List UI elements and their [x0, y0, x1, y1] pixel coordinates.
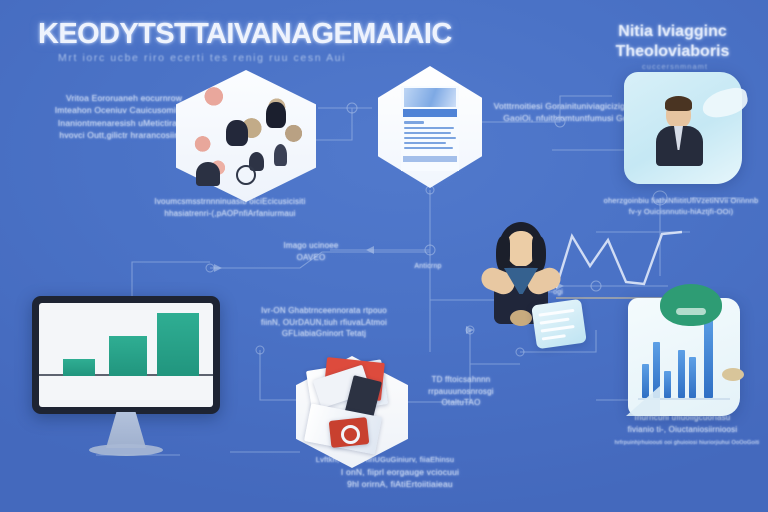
document-text-line [404, 142, 446, 145]
infographic-canvas: KEODYTSTTAIVANAGEMAIAIC Mrt iorc ucbe ri… [0, 0, 768, 512]
document-text-line [404, 121, 424, 124]
avatar-hair [665, 96, 692, 111]
callout-bottom-caption: I onN, fiiprl eorgauge vciocuui 9hl orir… [300, 466, 500, 491]
monitor-bar [109, 336, 147, 376]
meeting-figure [226, 120, 248, 146]
top-right-subtitle: cuccersnmnamt [600, 62, 750, 71]
monitor-screen [39, 303, 213, 407]
analytics-bar [642, 364, 649, 398]
zigzag-line-chart [556, 216, 682, 302]
monitor-stand-base [89, 444, 163, 456]
meeting-figure [274, 144, 287, 166]
note-line [539, 318, 569, 325]
document-text-line [404, 132, 451, 135]
note-line [541, 325, 575, 333]
document-header-image [404, 88, 455, 107]
page-subtitle: Mrt iorc ucbe riro ecerti tes renig ruu … [58, 52, 358, 64]
document-text-line [404, 137, 455, 140]
monitor-bar [157, 313, 199, 375]
callout-right-edge-top: hrfrpuinhjrhuioouti ooi ghuioiosi hiurio… [608, 440, 766, 448]
callout-right-mid: oherzgoinbiu fiathiNfiititUfiVzetiNVii O… [596, 196, 766, 218]
callout-center-lower: TD fftoicsahnnn rrpauuunosnrosgi OtaltuT… [396, 374, 526, 409]
analytics-bar [678, 350, 685, 398]
analytics-pin [722, 368, 744, 381]
analytics-bar [689, 357, 696, 398]
callout-center-upper: Imago ucinoee OAVEO [266, 240, 356, 263]
analytics-bar [704, 312, 713, 398]
page-title: KEODYTSTTAIVANAGEMAIAIC [38, 18, 368, 51]
desktop-monitor-chart [32, 296, 220, 414]
floating-note-card [531, 299, 587, 350]
document-band [403, 109, 457, 117]
analytics-bar [664, 371, 671, 398]
document-band [403, 156, 457, 163]
documents-hexagon [296, 356, 408, 468]
meeting-figure [196, 162, 220, 186]
team-meeting-photo-hexagon [176, 70, 316, 202]
monitor-bar [63, 359, 94, 376]
card-highlight [700, 86, 750, 121]
person-hands [510, 310, 532, 326]
callout-small-tag-a: Anticrnp [398, 262, 458, 272]
person-profile-card [624, 72, 742, 184]
document-text-line [404, 127, 454, 130]
report-document-hexagon [378, 66, 482, 188]
note-line [542, 334, 566, 340]
analytics-green-badge [660, 284, 722, 326]
document-text-line [404, 147, 453, 150]
document-page [401, 86, 459, 171]
meeting-figure [266, 102, 286, 128]
note-line [538, 309, 574, 317]
callout-center-mid: Ivr-ON Ghabtrnceennorata rtpouo fiinN, O… [244, 305, 404, 340]
top-right-title: Nitia Iviagginc Theoloviaboris [590, 22, 755, 62]
monitor-stand [106, 412, 146, 448]
